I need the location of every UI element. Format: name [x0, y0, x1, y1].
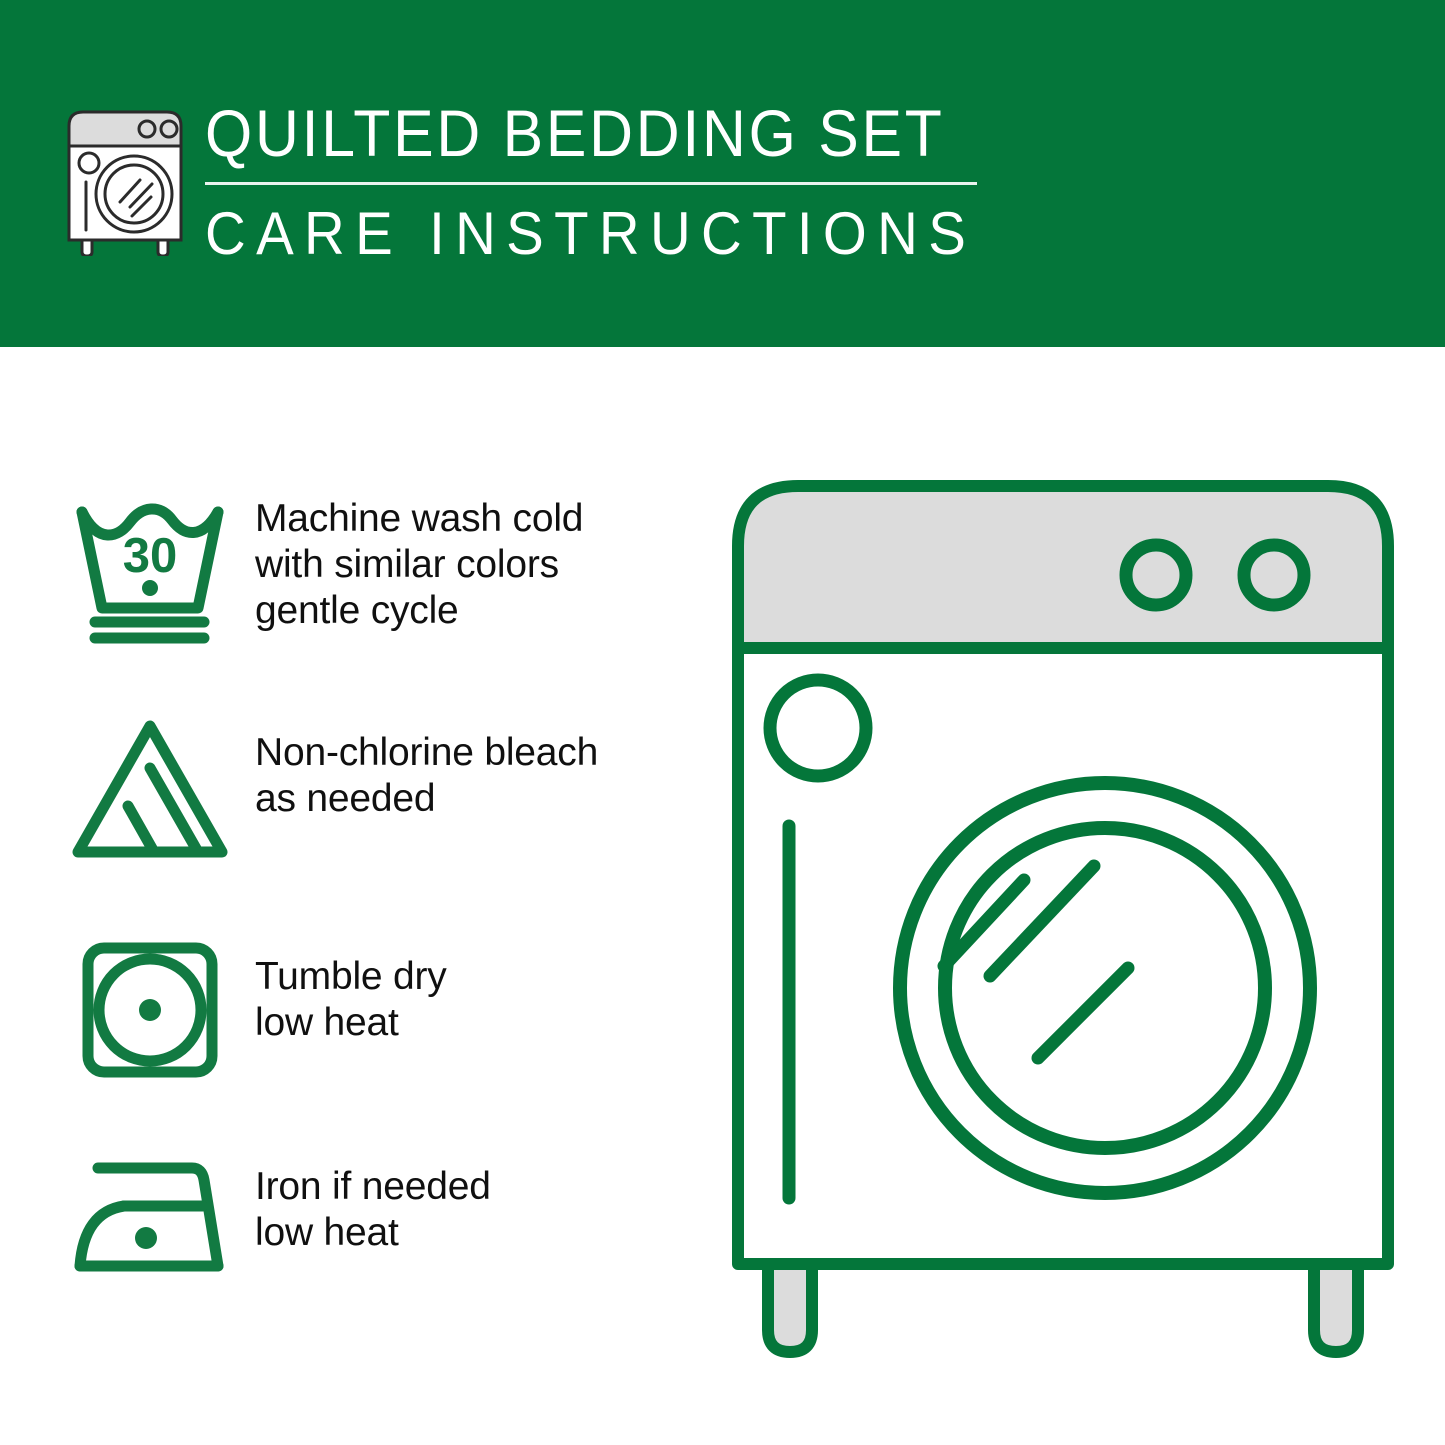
leg-right [1314, 1258, 1358, 1352]
title-divider [205, 182, 977, 185]
care-line: low heat [255, 1210, 491, 1256]
care-label-iron: Iron if needed low heat [255, 1140, 491, 1256]
care-line: low heat [255, 1000, 447, 1046]
care-label-machine-wash: Machine wash cold with similar colors ge… [255, 490, 583, 634]
care-label-bleach: Non-chlorine bleach as needed [255, 710, 598, 822]
page-subtitle: CARE INSTRUCTIONS [205, 201, 948, 267]
care-row-tumble-dry: Tumble dry low heat [0, 930, 700, 1110]
care-row-machine-wash: 30 Machine wash cold with similar colors… [0, 490, 700, 670]
care-label-tumble-dry: Tumble dry low heat [255, 930, 447, 1046]
care-row-iron: Iron if needed low heat [0, 1140, 700, 1320]
wash-temperature-label: 30 [123, 529, 178, 583]
front-load-washing-machine-illustration [722, 468, 1422, 1368]
care-line: with similar colors [255, 542, 583, 588]
page-title: QUILTED BEDDING SET [205, 98, 932, 168]
care-line: Machine wash cold [255, 496, 583, 542]
washing-machine-icon [62, 104, 192, 256]
care-line: as needed [255, 776, 598, 822]
care-row-bleach: Non-chlorine bleach as needed [0, 710, 700, 890]
leg-left [768, 1258, 812, 1352]
care-line: Tumble dry [255, 954, 447, 1000]
care-line: Non-chlorine bleach [255, 730, 598, 776]
machine-wash-30-gentle-icon: 30 [62, 490, 237, 650]
care-line: Iron if needed [255, 1164, 491, 1210]
non-chlorine-bleach-icon [62, 710, 237, 870]
header-text-block: QUILTED BEDDING SET CARE INSTRUCTIONS [205, 98, 995, 267]
iron-low-heat-icon [62, 1140, 237, 1300]
page-header: QUILTED BEDDING SET CARE INSTRUCTIONS [0, 0, 1445, 347]
tumble-dry-low-icon [62, 930, 237, 1090]
care-line: gentle cycle [255, 588, 583, 634]
care-instructions-page: QUILTED BEDDING SET CARE INSTRUCTIONS [0, 0, 1445, 1445]
